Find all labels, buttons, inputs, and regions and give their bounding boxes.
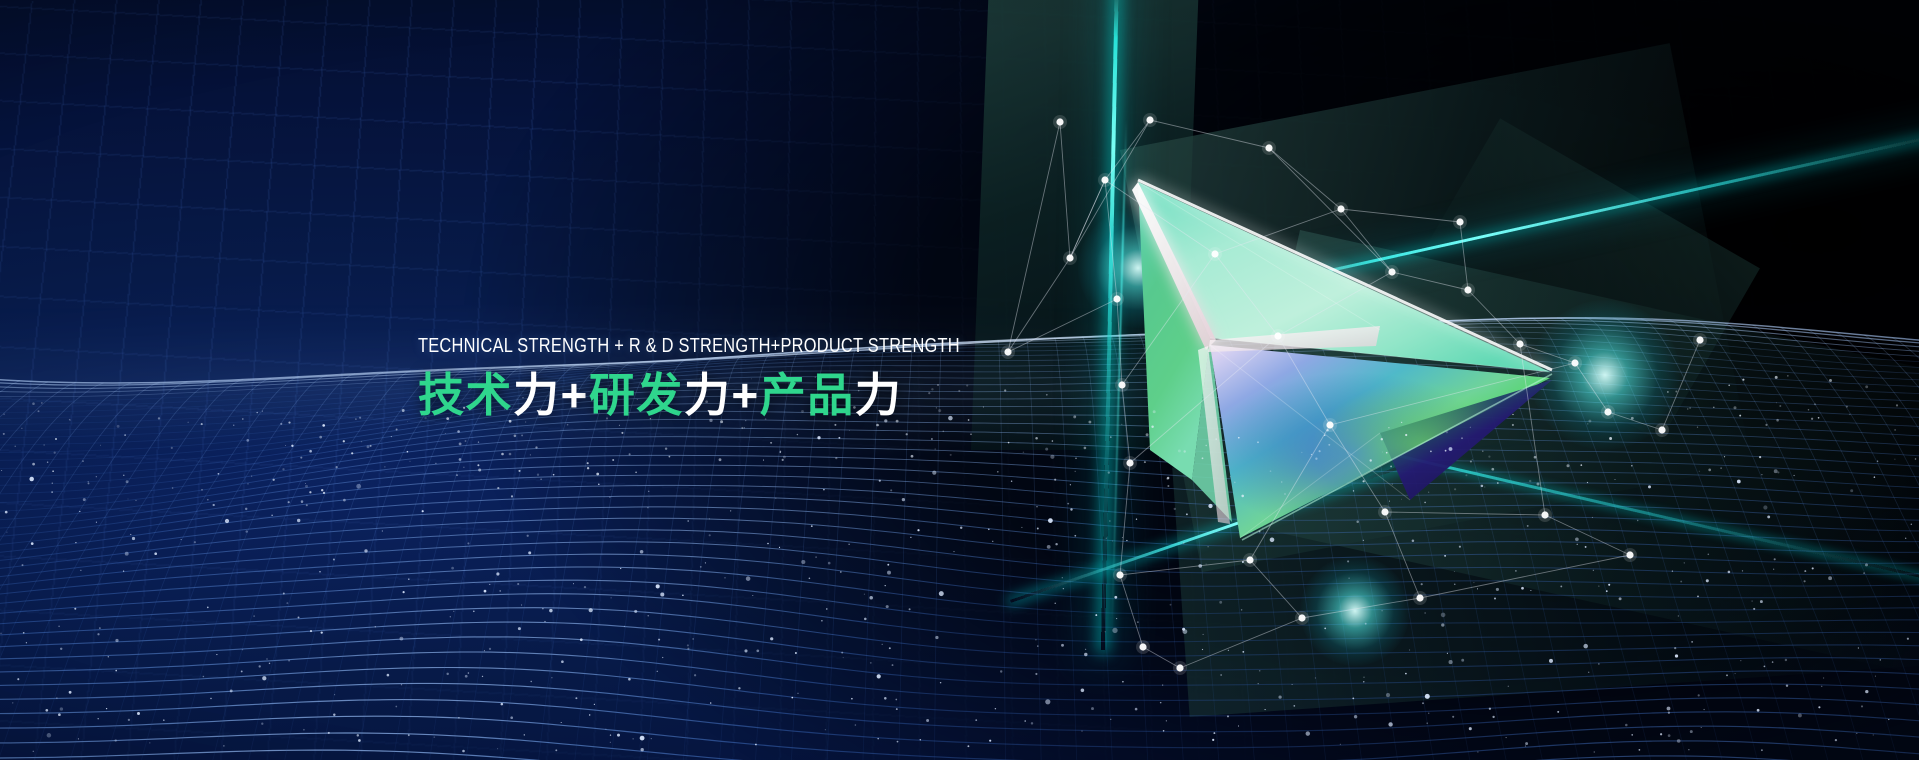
headline-segment-7: 力: [855, 369, 903, 421]
headline-block: TECHNICAL STRENGTH + R & D STRENGTH+PROD…: [418, 336, 1095, 419]
headline-segment-0: 技术: [418, 369, 513, 421]
eyebrow-text: TECHNICAL STRENGTH + R & D STRENGTH+PROD…: [418, 336, 960, 357]
headline-segment-2: +: [561, 369, 589, 421]
headline-segment-1: 力: [513, 369, 561, 421]
hero-banner: TECHNICAL STRENGTH + R & D STRENGTH+PROD…: [0, 0, 1919, 760]
headline-segment-5: +: [731, 369, 759, 421]
headline-segment-4: 力: [684, 369, 732, 421]
page-title: 技术力+研发力+产品力: [418, 371, 1095, 420]
headline-segment-3: 研发: [589, 369, 684, 421]
headline-segment-6: 产品: [760, 369, 855, 421]
